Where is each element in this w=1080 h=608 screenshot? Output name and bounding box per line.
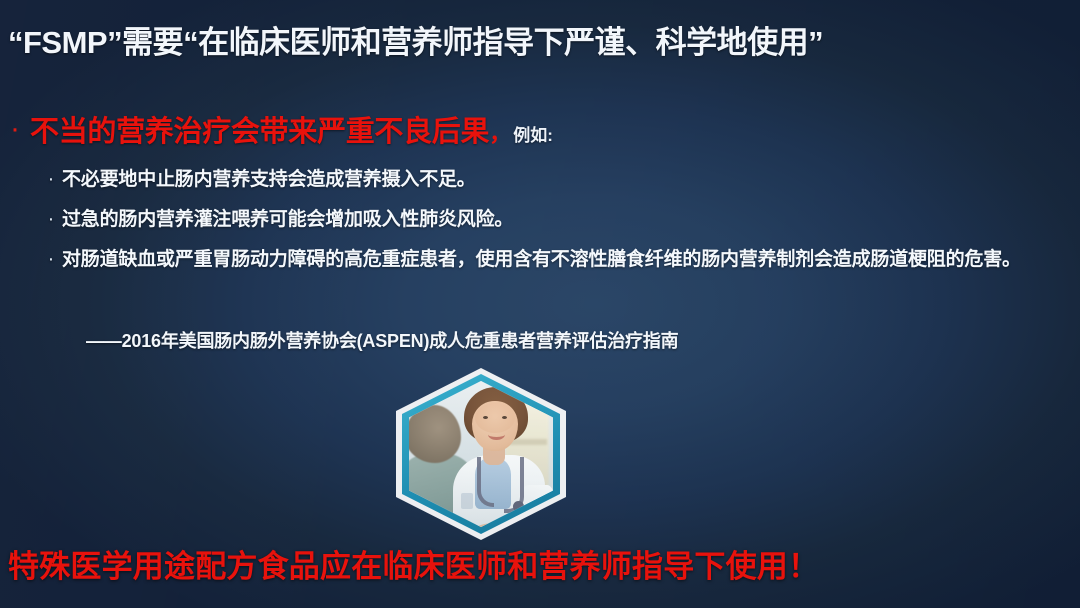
- lead-bullet-emphasis-text: 不当的营养治疗会带来严重不良后果: [30, 108, 489, 150]
- bullet-text: 过急的肠内营养灌注喂养可能会增加吸入性肺炎风险。: [62, 206, 513, 233]
- bullet-text: 不必要地中止肠内营养支持会造成营养摄入不足。: [62, 166, 476, 193]
- slide-title: “FSMP”需要“在临床医师和营养师指导下严谨、科学地使用”: [8, 24, 1068, 61]
- lead-bullet-marker-icon: ·: [10, 114, 20, 144]
- bullet-text: 对肠道缺血或严重胃肠动力障碍的高危重症患者，使用含有不溶性膳食纤维的肠内营养制剂…: [62, 246, 1021, 273]
- bullet-marker-icon: ·: [40, 246, 62, 272]
- list-item: · 不必要地中止肠内营养支持会造成营养摄入不足。: [40, 166, 1060, 193]
- citation-source-text: ——2016年美国肠内肠外营养协会(ASPEN)成人危重患者营养评估治疗指南: [86, 327, 678, 353]
- sub-bullet-list: · 不必要地中止肠内营养支持会造成营养摄入不足。 · 过急的肠内营养灌注喂养可能…: [40, 166, 1060, 286]
- bullet-marker-icon: ·: [40, 166, 62, 192]
- list-item: · 对肠道缺血或严重胃肠动力障碍的高危重症患者，使用含有不溶性膳食纤维的肠内营养…: [40, 246, 1060, 273]
- lead-bullet-row: · 不当的营养治疗会带来严重不良后果 ， 例如:: [10, 108, 553, 150]
- hexagon-photo-frame: [396, 368, 566, 540]
- lead-bullet-comma: ，: [489, 116, 511, 148]
- lead-bullet-suffix-text: 例如:: [513, 121, 553, 146]
- list-item: · 过急的肠内营养灌注喂养可能会增加吸入性肺炎风险。: [40, 206, 1060, 233]
- bottom-call-to-action-banner: 特殊医学用途配方食品应在临床医师和营养师指导下使用！: [8, 548, 1072, 587]
- slide-canvas: “FSMP”需要“在临床医师和营养师指导下严谨、科学地使用” · 不当的营养治疗…: [0, 0, 1080, 608]
- bullet-marker-icon: ·: [40, 206, 62, 232]
